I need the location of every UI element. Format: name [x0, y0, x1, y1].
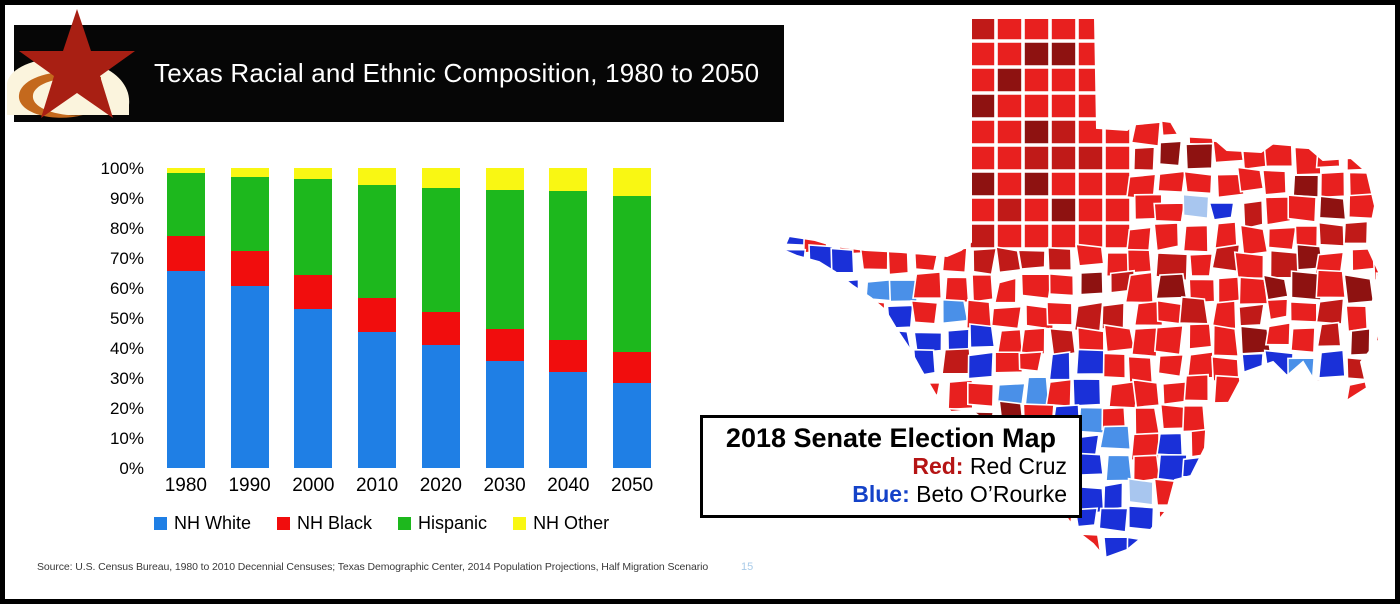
county-region — [1027, 538, 1056, 563]
x-axis-tick-label: 2030 — [475, 475, 535, 497]
county-region — [970, 68, 995, 92]
legend-item-nh-white: NH White — [154, 513, 251, 534]
county-region — [1024, 224, 1049, 248]
county-region — [1212, 301, 1236, 329]
county-region — [996, 565, 1025, 589]
county-region — [1245, 121, 1271, 148]
bar-segment-nh-other — [613, 168, 651, 196]
county-region — [1213, 115, 1241, 142]
county-region — [1267, 91, 1292, 111]
bar-segment-hispanic — [613, 196, 651, 353]
county-region — [1184, 172, 1212, 194]
county-region — [1101, 560, 1130, 580]
county-region — [1076, 561, 1106, 585]
county-region — [920, 70, 943, 98]
county-region — [1263, 170, 1286, 195]
county-region — [1317, 70, 1342, 99]
county-region — [997, 591, 1023, 600]
county-region — [916, 120, 943, 147]
bar-segment-nh-other — [422, 168, 460, 188]
county-region — [970, 224, 995, 248]
county-region — [856, 300, 885, 322]
county-region — [1078, 172, 1103, 196]
county-region — [1349, 38, 1374, 62]
county-region — [804, 144, 825, 167]
county-region — [1374, 200, 1395, 221]
county-region — [1270, 483, 1295, 510]
county-region — [1051, 224, 1076, 248]
county-region — [861, 97, 883, 123]
county-region — [1243, 201, 1262, 229]
county-region — [1319, 350, 1345, 378]
county-region — [1078, 68, 1103, 92]
county-region — [1132, 122, 1161, 146]
county-region — [779, 565, 810, 583]
county-region — [1049, 352, 1070, 380]
county-region — [965, 556, 993, 580]
county-region — [1377, 379, 1395, 405]
county-region — [836, 92, 859, 115]
bar-segment-hispanic — [549, 191, 587, 340]
county-region — [1105, 224, 1130, 248]
county-region — [1076, 349, 1106, 374]
county-region — [916, 38, 946, 63]
legend-label: NH Black — [297, 513, 372, 534]
county-region — [779, 590, 804, 600]
county-region — [1236, 536, 1263, 558]
county-region — [1128, 591, 1157, 600]
county-region — [1104, 483, 1123, 510]
county-region — [1160, 141, 1182, 165]
county-region — [1154, 223, 1178, 251]
county-region — [938, 67, 963, 91]
county-region — [1127, 537, 1154, 563]
county-region — [1077, 584, 1105, 600]
county-region — [1316, 531, 1343, 558]
county-region — [1157, 433, 1182, 455]
county-region — [811, 66, 838, 90]
county-region — [939, 532, 961, 560]
county-region — [782, 273, 805, 299]
y-axis-labels: 100%90%80%70%60%50%40%30%20%10%0% — [74, 155, 144, 475]
bar-segment-nh-white — [294, 309, 332, 468]
county-region — [1188, 120, 1214, 145]
county-region — [1129, 506, 1154, 530]
county-region — [782, 147, 805, 167]
bar-segment-nh-white — [486, 361, 524, 468]
county-region — [1208, 36, 1235, 62]
county-region — [1237, 583, 1262, 600]
legend-swatch-icon — [513, 517, 526, 530]
star-logo — [5, 5, 145, 120]
county-region — [1051, 42, 1076, 66]
bar-segment-nh-black — [486, 329, 524, 361]
county-region — [970, 146, 995, 170]
county-region — [940, 145, 970, 172]
county-region — [997, 198, 1022, 222]
county-region — [912, 383, 940, 401]
county-region — [1212, 70, 1235, 94]
county-region — [833, 303, 860, 325]
county-region — [1265, 197, 1290, 225]
legend-item-nh-other: NH Other — [513, 513, 609, 534]
county-region — [892, 145, 919, 168]
county-region — [941, 44, 965, 66]
bar-segment-nh-white — [549, 372, 587, 468]
legend-label: Hispanic — [418, 513, 487, 534]
county-region — [1348, 401, 1371, 427]
county-region — [861, 379, 881, 405]
texas-election-map: 2018 Senate Election Map Red: Red Cruz B… — [775, 10, 1395, 600]
bar-segment-nh-black — [167, 236, 205, 271]
county-region — [830, 16, 853, 44]
legend-label: NH Other — [533, 513, 609, 534]
county-region — [1213, 431, 1238, 454]
county-region — [1213, 141, 1243, 163]
county-region — [830, 124, 861, 150]
county-region — [1209, 203, 1233, 220]
legend-swatch-icon — [277, 517, 290, 530]
y-axis-tick-label: 60% — [80, 280, 144, 297]
county-region — [1214, 538, 1243, 564]
county-region — [1154, 94, 1177, 119]
county-region — [1024, 16, 1049, 40]
county-region — [835, 174, 864, 194]
county-region — [886, 173, 912, 201]
county-region — [911, 301, 937, 324]
county-region — [1076, 244, 1104, 266]
county-region — [997, 120, 1022, 144]
county-region — [1347, 453, 1376, 472]
county-region — [1051, 198, 1076, 222]
county-region — [1099, 508, 1128, 532]
county-region — [1127, 250, 1151, 274]
county-region — [1241, 486, 1265, 509]
county-region — [1051, 16, 1076, 40]
county-region — [1375, 454, 1395, 476]
county-region — [1265, 536, 1290, 557]
x-axis-tick-label: 2040 — [538, 475, 598, 497]
county-region — [1218, 409, 1240, 439]
bar-2050 — [613, 168, 651, 468]
county-region — [1213, 325, 1238, 356]
county-region — [1269, 19, 1297, 40]
county-region — [807, 590, 834, 600]
county-region — [1372, 118, 1395, 143]
county-region — [782, 382, 808, 406]
county-region — [1154, 203, 1184, 222]
county-region — [1240, 94, 1265, 116]
county-region — [1212, 17, 1240, 39]
county-region — [1237, 562, 1258, 588]
county-region — [813, 41, 837, 68]
county-region — [1293, 96, 1315, 116]
county-region — [1352, 95, 1374, 115]
county-region — [1184, 14, 1211, 38]
county-region — [1296, 19, 1318, 43]
county-region — [831, 248, 854, 272]
county-region — [1023, 559, 1048, 587]
county-region — [1155, 326, 1183, 355]
bar-2000 — [294, 168, 332, 468]
county-region — [1294, 482, 1325, 509]
county-region — [863, 118, 889, 142]
county-region — [1321, 172, 1345, 198]
bar-1980 — [167, 168, 205, 468]
county-region — [1240, 36, 1263, 59]
county-region — [1266, 323, 1290, 345]
county-region — [1051, 94, 1076, 118]
bar-segment-nh-black — [549, 340, 587, 372]
county-region — [1212, 478, 1237, 509]
county-region — [779, 327, 804, 355]
county-region — [1316, 270, 1345, 297]
county-region — [997, 68, 1022, 92]
county-region — [1054, 589, 1082, 600]
county-region — [1046, 379, 1071, 406]
legend-label: NH White — [174, 513, 251, 534]
county-region — [804, 271, 828, 301]
x-axis-tick-label: 1990 — [220, 475, 280, 497]
county-region — [781, 91, 809, 116]
county-region — [1078, 120, 1103, 144]
county-region — [1100, 426, 1130, 449]
county-region — [968, 352, 993, 378]
county-region — [1319, 223, 1344, 246]
county-region — [1350, 534, 1374, 560]
bar-2020 — [422, 168, 460, 468]
county-region — [1316, 462, 1342, 479]
county-region — [1211, 96, 1236, 120]
county-region — [1051, 120, 1076, 144]
county-region — [887, 537, 911, 559]
county-region — [1373, 515, 1393, 539]
county-region — [917, 19, 938, 39]
county-region — [1024, 198, 1049, 222]
map-legend-blue-row: Blue: Beto O’Rourke — [715, 481, 1067, 507]
county-region — [891, 382, 920, 406]
county-region — [1370, 556, 1395, 583]
y-axis-tick-label: 20% — [80, 400, 144, 417]
map-legend-box: 2018 Senate Election Map Red: Red Cruz B… — [700, 415, 1082, 518]
county-region — [999, 534, 1020, 557]
legend-swatch-icon — [154, 517, 167, 530]
county-region — [1104, 589, 1126, 600]
map-legend-red-row: Red: Red Cruz — [715, 453, 1067, 479]
county-region — [1378, 66, 1395, 89]
county-region — [1050, 274, 1074, 296]
county-region — [1239, 277, 1267, 304]
bar-segment-hispanic — [486, 190, 524, 328]
county-region — [1179, 297, 1208, 324]
county-region — [1208, 511, 1234, 538]
county-region — [889, 591, 916, 600]
county-region — [780, 69, 805, 90]
county-region — [837, 349, 862, 380]
county-region — [995, 352, 1022, 373]
county-region — [861, 326, 885, 350]
county-region — [829, 196, 858, 219]
county-region — [1242, 16, 1273, 36]
bar-segment-nh-black — [294, 275, 332, 309]
bar-segment-nh-black — [422, 312, 460, 345]
county-region — [1293, 70, 1319, 94]
county-region — [1237, 436, 1261, 458]
county-region — [1263, 115, 1290, 141]
county-region — [891, 121, 917, 147]
county-region — [1073, 379, 1101, 406]
county-region — [1321, 484, 1343, 514]
county-region — [1325, 585, 1349, 600]
county-region — [1132, 89, 1156, 113]
county-region — [1351, 589, 1379, 600]
county-region — [1267, 299, 1287, 320]
bar-segment-hispanic — [422, 188, 460, 312]
county-region — [914, 197, 936, 226]
county-region — [1024, 42, 1049, 66]
county-region — [1239, 304, 1264, 326]
source-note: Source: U.S. Census Bureau, 1980 to 2010… — [37, 561, 708, 573]
county-region — [944, 173, 973, 198]
county-region — [1317, 436, 1343, 460]
county-region — [835, 280, 859, 304]
county-region — [1078, 198, 1103, 222]
county-region — [1157, 69, 1182, 94]
county-region — [920, 592, 942, 600]
county-region — [1268, 227, 1295, 249]
county-region — [1134, 65, 1160, 90]
page-title: Texas Racial and Ethnic Composition, 198… — [154, 25, 774, 122]
county-region — [1376, 93, 1395, 116]
county-region — [1024, 68, 1049, 92]
county-region — [1105, 198, 1130, 222]
map-legend-red-key: Red: — [912, 453, 963, 479]
county-region — [997, 172, 1022, 196]
bar-segment-nh-white — [358, 332, 396, 468]
county-region — [941, 196, 967, 218]
county-region — [1184, 375, 1208, 401]
bar-segment-nh-black — [231, 251, 269, 286]
county-region — [1186, 144, 1213, 169]
county-region — [781, 15, 802, 43]
county-region — [1181, 41, 1208, 65]
county-region — [862, 533, 886, 556]
county-region — [862, 354, 887, 378]
county-region — [1294, 563, 1321, 586]
county-region — [857, 66, 880, 92]
bar-segment-nh-white — [422, 345, 460, 468]
county-region — [1208, 561, 1236, 584]
county-region — [1133, 380, 1159, 408]
county-region — [1234, 70, 1265, 94]
county-region — [1104, 325, 1134, 352]
county-region — [992, 307, 1022, 329]
county-region — [783, 39, 812, 67]
county-region — [943, 591, 966, 600]
county-region — [833, 146, 856, 170]
county-region — [912, 143, 937, 167]
county-region — [804, 168, 827, 195]
county-region — [832, 72, 855, 98]
county-region — [1372, 143, 1394, 169]
county-region — [1261, 433, 1291, 458]
county-region — [1319, 196, 1345, 219]
county-region — [833, 42, 857, 67]
county-region — [1106, 455, 1132, 481]
county-region — [1263, 275, 1288, 300]
county-region — [861, 197, 888, 222]
county-region — [810, 565, 831, 591]
county-region — [1078, 16, 1103, 40]
bar-2030 — [486, 168, 524, 468]
county-region — [970, 94, 995, 118]
bar-segment-hispanic — [294, 179, 332, 275]
bar-segment-nh-other — [549, 168, 587, 191]
county-region — [1047, 532, 1070, 559]
bar-segment-nh-other — [167, 168, 205, 173]
county-region — [1288, 117, 1317, 142]
county-region — [1129, 479, 1153, 505]
bar-segment-nh-white — [231, 286, 269, 468]
county-region — [1317, 323, 1340, 347]
bar-segment-hispanic — [167, 173, 205, 236]
county-region — [1377, 428, 1395, 455]
page-number: 15 — [741, 561, 753, 573]
county-region — [1105, 94, 1130, 118]
legend-swatch-icon — [398, 517, 411, 530]
county-region — [1190, 254, 1213, 276]
county-region — [1241, 385, 1267, 411]
county-region — [1320, 506, 1342, 527]
chart-plot-area — [154, 168, 664, 468]
county-region — [803, 194, 833, 224]
bar-segment-hispanic — [231, 177, 269, 251]
county-region — [1317, 379, 1339, 405]
y-axis-tick-label: 100% — [80, 160, 144, 177]
county-region — [997, 16, 1022, 40]
county-region — [1346, 68, 1374, 93]
county-region — [1159, 585, 1185, 600]
county-region — [1242, 142, 1267, 169]
county-region — [777, 299, 798, 326]
county-region — [1322, 119, 1352, 144]
county-region — [863, 147, 887, 167]
county-region — [1269, 590, 1293, 600]
county-region — [1048, 248, 1072, 270]
bar-segment-nh-white — [613, 383, 651, 468]
county-region — [1351, 561, 1381, 580]
county-region — [831, 383, 853, 405]
county-region — [1288, 195, 1316, 222]
stacked-bar-chart: 100%90%80%70%60%50%40%30%20%10%0% 198019… — [14, 155, 784, 555]
county-region — [856, 223, 881, 248]
county-region — [1180, 534, 1207, 561]
county-region — [1372, 403, 1395, 431]
county-region — [945, 277, 969, 302]
slide-canvas: Texas Racial and Ethnic Composition, 198… — [0, 0, 1400, 604]
county-region — [1019, 352, 1042, 371]
county-region — [1370, 587, 1393, 600]
county-region — [913, 272, 941, 298]
county-region — [776, 533, 802, 555]
county-region — [1293, 508, 1316, 530]
county-region — [1345, 431, 1371, 456]
county-region — [1126, 272, 1154, 302]
county-region — [1263, 41, 1288, 70]
county-region — [945, 17, 969, 41]
county-region — [891, 558, 913, 585]
county-region — [889, 71, 915, 92]
